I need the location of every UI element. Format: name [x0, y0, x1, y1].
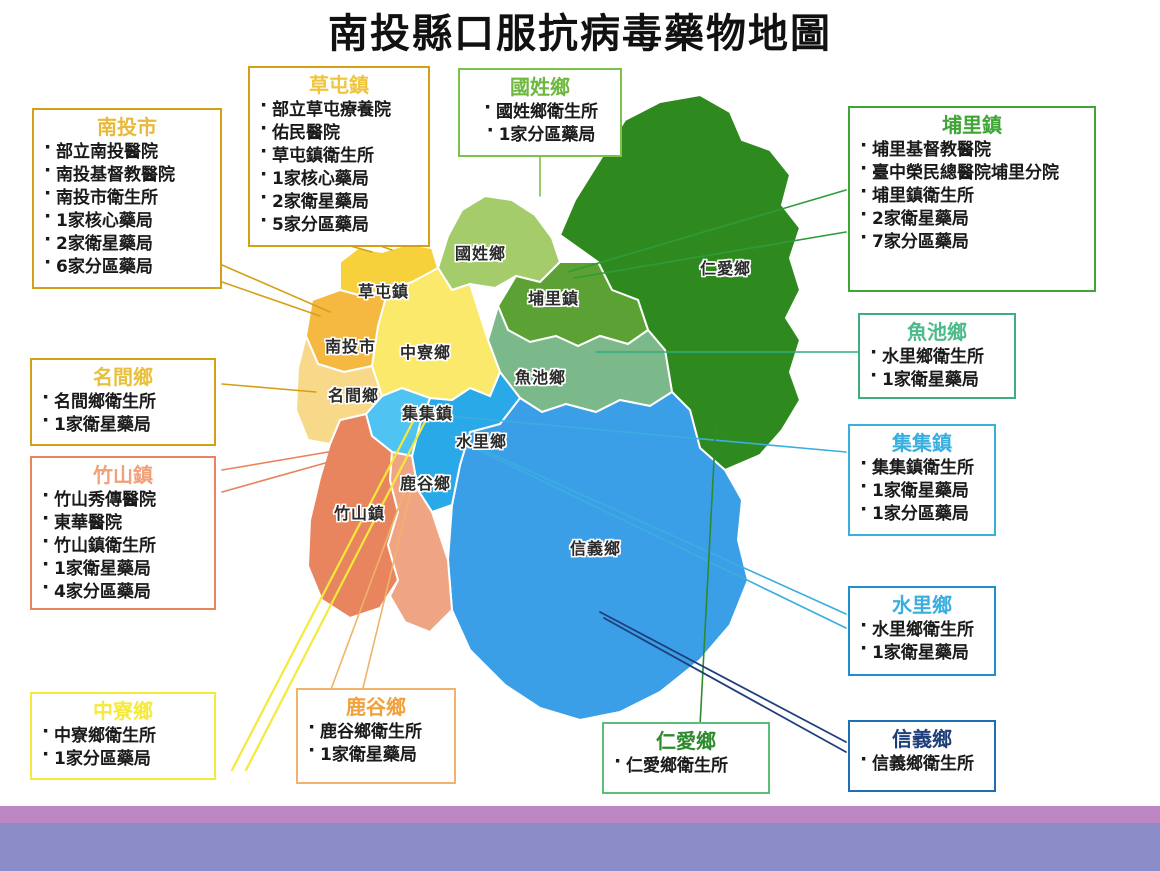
callout-title-puli: 埔里鎮 [858, 112, 1086, 138]
callout-xinyi[interactable]: 信義鄉 信義鄉衛生所 [848, 720, 996, 792]
callout-lugu[interactable]: 鹿谷鄉 鹿谷鄉衛生所 1家衛星藥局 [296, 688, 456, 784]
list-item: 草屯鎮衛生所 [258, 145, 420, 168]
list-item: 1家核心藥局 [42, 210, 212, 233]
list-item: 埔里鎮衛生所 [858, 185, 1086, 208]
list-item: 1家衛星藥局 [858, 480, 986, 503]
list-item: 信義鄉衛生所 [858, 753, 986, 776]
callout-list-renai: 仁愛鄉衛生所 [612, 755, 760, 778]
list-item: 竹山鎮衛生所 [40, 535, 206, 558]
list-item: 1家核心藥局 [258, 168, 420, 191]
callout-title-jiji: 集集鎮 [858, 430, 986, 456]
callout-list-zhongliao: 中寮鄉衛生所 1家分區藥局 [40, 725, 206, 771]
list-item: 南投市衛生所 [42, 187, 212, 210]
list-item: 東華醫院 [40, 512, 206, 535]
callout-renai[interactable]: 仁愛鄉 仁愛鄉衛生所 [602, 722, 770, 794]
callout-title-yuchi: 魚池鄉 [868, 319, 1006, 345]
callout-list-shuili: 水里鄉衛生所 1家衛星藥局 [858, 619, 986, 665]
callout-nantou-city[interactable]: 南投市 部立南投醫院 南投基督教醫院 南投市衛生所 1家核心藥局 2家衛星藥局 … [32, 108, 222, 289]
callout-shuili[interactable]: 水里鄉 水里鄉衛生所 1家衛星藥局 [848, 586, 996, 676]
callout-list-yuchi: 水里鄉衛生所 1家衛星藥局 [868, 346, 1006, 392]
list-item: 1家衛星藥局 [40, 414, 206, 437]
map-label-nantou-city: 南投市 [325, 333, 376, 357]
list-item: 竹山秀傳醫院 [40, 489, 206, 512]
list-item: 1家分區藥局 [858, 503, 986, 526]
callout-list-mingjian: 名間鄉衛生所 1家衛星藥局 [40, 391, 206, 437]
list-item: 6家分區藥局 [42, 256, 212, 279]
list-item: 2家衛星藥局 [258, 191, 420, 214]
list-item: 7家分區藥局 [858, 231, 1086, 254]
callout-caotun[interactable]: 草屯鎮 部立草屯療養院 佑民醫院 草屯鎮衛生所 1家核心藥局 2家衛星藥局 5家… [248, 66, 430, 247]
list-item: 名間鄉衛生所 [40, 391, 206, 414]
callout-zhongliao[interactable]: 中寮鄉 中寮鄉衛生所 1家分區藥局 [30, 692, 216, 780]
map-label-mingjian: 名間鄉 [328, 382, 379, 406]
list-item: 4家分區藥局 [40, 581, 206, 604]
callout-title-zhongliao: 中寮鄉 [40, 698, 206, 724]
callout-puli[interactable]: 埔里鎮 埔里基督教醫院 臺中榮民總醫院埔里分院 埔里鎮衛生所 2家衛星藥局 7家… [848, 106, 1096, 292]
callout-title-mingjian: 名間鄉 [40, 364, 206, 390]
list-item: 鹿谷鄉衛生所 [306, 721, 446, 744]
list-item: 水里鄉衛生所 [858, 619, 986, 642]
callout-list-zhushan: 竹山秀傳醫院 東華醫院 竹山鎮衛生所 1家衛星藥局 4家分區藥局 [40, 489, 206, 604]
list-item: 部立南投醫院 [42, 141, 212, 164]
list-item: 1家衛星藥局 [40, 558, 206, 581]
callout-list-puli: 埔里基督教醫院 臺中榮民總醫院埔里分院 埔里鎮衛生所 2家衛星藥局 7家分區藥局 [858, 139, 1086, 254]
list-item: 仁愛鄉衛生所 [612, 755, 760, 778]
list-item: 2家衛星藥局 [858, 208, 1086, 231]
map-label-jiji: 集集鎮 [402, 400, 453, 424]
list-item: 國姓鄉衛生所 [482, 101, 598, 124]
list-item: 部立草屯療養院 [258, 99, 420, 122]
list-item: 5家分區藥局 [258, 214, 420, 237]
connector-nantou-city-2 [222, 265, 330, 312]
footer-band-lower [0, 823, 1160, 871]
callout-title-nantou-city: 南投市 [42, 114, 212, 140]
map-label-yuchi: 魚池鄉 [515, 364, 566, 388]
list-item: 1家分區藥局 [40, 748, 206, 771]
list-item: 2家衛星藥局 [42, 233, 212, 256]
map-label-caotun: 草屯鎮 [358, 278, 409, 302]
list-item: 中寮鄉衛生所 [40, 725, 206, 748]
list-item: 佑民醫院 [258, 122, 420, 145]
list-item: 水里鄉衛生所 [868, 346, 1006, 369]
callout-title-renai: 仁愛鄉 [612, 728, 760, 754]
callout-zhushan[interactable]: 竹山鎮 竹山秀傳醫院 東華醫院 竹山鎮衛生所 1家衛星藥局 4家分區藥局 [30, 456, 216, 610]
callout-guoxing[interactable]: 國姓鄉 國姓鄉衛生所 1家分區藥局 [458, 68, 622, 157]
callout-list-lugu: 鹿谷鄉衛生所 1家衛星藥局 [306, 721, 446, 767]
callout-title-lugu: 鹿谷鄉 [306, 694, 446, 720]
map-label-puli: 埔里鎮 [528, 285, 579, 309]
callout-title-zhushan: 竹山鎮 [40, 462, 206, 488]
map-label-zhongliao: 中寮鄉 [400, 339, 451, 363]
callout-title-caotun: 草屯鎮 [258, 72, 420, 98]
map-label-zhushan: 竹山鎮 [334, 500, 385, 524]
callout-list-guoxing: 國姓鄉衛生所 1家分區藥局 [468, 101, 612, 147]
list-item: 埔里基督教醫院 [858, 139, 1086, 162]
map-label-renai: 仁愛鄉 [700, 255, 751, 279]
callout-jiji[interactable]: 集集鎮 集集鎮衛生所 1家衛星藥局 1家分區藥局 [848, 424, 996, 536]
map-label-guoxing: 國姓鄉 [455, 240, 506, 264]
list-item: 集集鎮衛生所 [858, 457, 986, 480]
footer-band-upper [0, 806, 1160, 823]
list-item: 1家衛星藥局 [306, 744, 446, 767]
callout-list-caotun: 部立草屯療養院 佑民醫院 草屯鎮衛生所 1家核心藥局 2家衛星藥局 5家分區藥局 [258, 99, 420, 237]
list-item: 1家分區藥局 [485, 124, 596, 147]
callout-list-xinyi: 信義鄉衛生所 [858, 753, 986, 776]
callout-title-shuili: 水里鄉 [858, 592, 986, 618]
list-item: 1家衛星藥局 [858, 642, 986, 665]
list-item: 臺中榮民總醫院埔里分院 [858, 162, 1086, 185]
infographic-canvas: 南投縣口服抗病毒藥物地圖 [0, 0, 1160, 871]
callout-yuchi[interactable]: 魚池鄉 水里鄉衛生所 1家衛星藥局 [858, 313, 1016, 399]
callout-mingjian[interactable]: 名間鄉 名間鄉衛生所 1家衛星藥局 [30, 358, 216, 446]
map-label-shuili: 水里鄉 [456, 428, 507, 452]
list-item: 1家衛星藥局 [868, 369, 1006, 392]
callout-title-xinyi: 信義鄉 [858, 726, 986, 752]
map-label-xinyi: 信義鄉 [570, 535, 621, 559]
list-item: 南投基督教醫院 [42, 164, 212, 187]
callout-list-jiji: 集集鎮衛生所 1家衛星藥局 1家分區藥局 [858, 457, 986, 526]
map-label-lugu: 鹿谷鄉 [400, 470, 451, 494]
callout-list-nantou-city: 部立南投醫院 南投基督教醫院 南投市衛生所 1家核心藥局 2家衛星藥局 6家分區… [42, 141, 212, 279]
